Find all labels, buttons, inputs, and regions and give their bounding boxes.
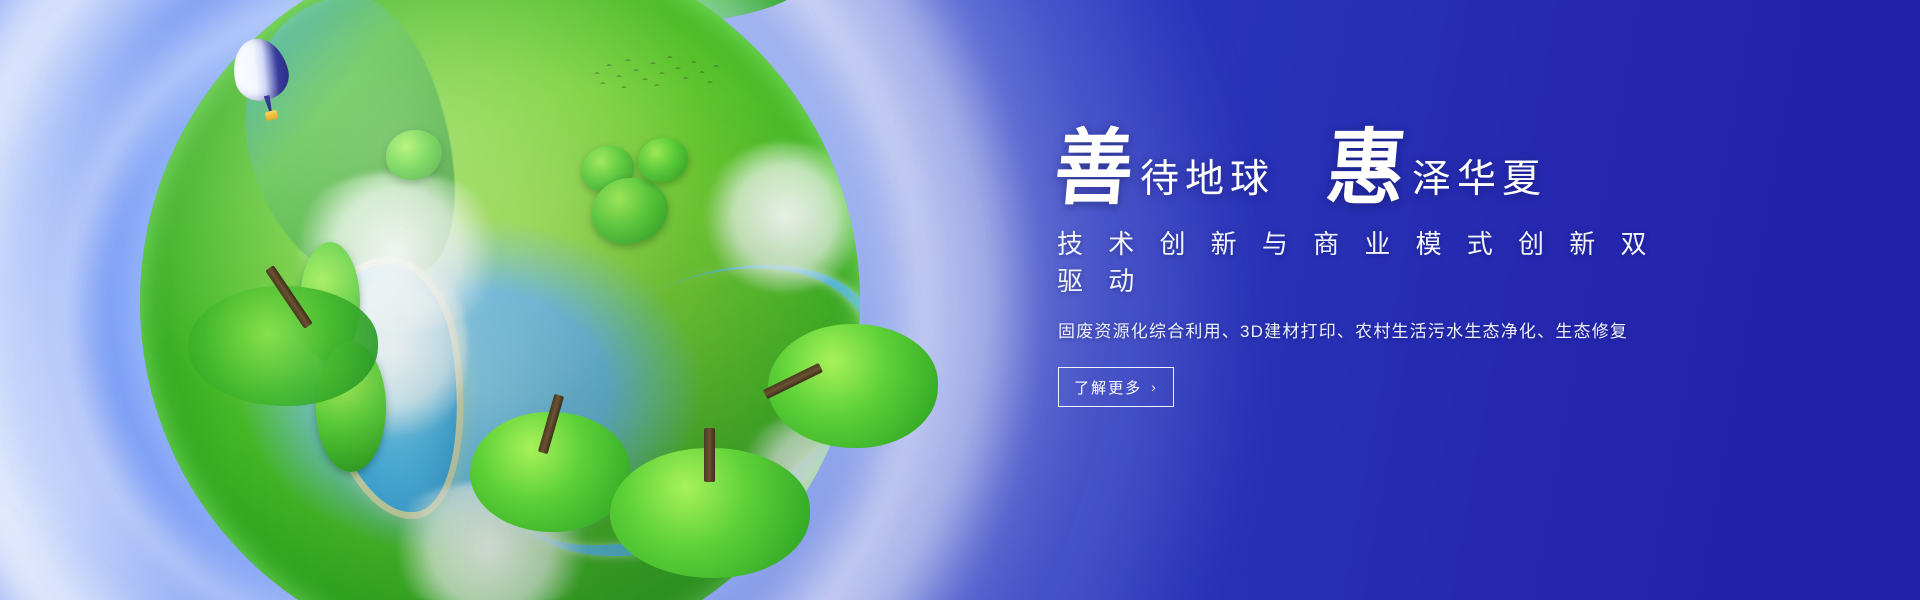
bush [386,130,442,180]
tagline: 技 术 创 新 与 商 业 模 式 创 新 双 驱 动 [1057,224,1695,298]
planet-sphere [140,0,860,600]
chevron-right-icon: › [1151,380,1158,394]
river [451,205,860,600]
headline-part2-large: 惠 [1323,128,1415,211]
headline-part2-small: 泽华夏 [1412,160,1547,208]
headline-part1-small: 待地球 [1140,160,1275,208]
learn-more-label: 了解更多 [1074,377,1142,398]
bush [300,242,360,362]
bush [592,178,668,244]
description-text: 固废资源化综合利用、3D建材打印、农村生活污水生态净化、生态修复 [1058,317,1695,342]
mountain-ridge [206,0,493,315]
bush [638,138,688,182]
hero-banner: 善 待地球 惠 泽华夏 技 术 创 新 与 商 业 模 式 创 新 双 驱 动 … [0,0,1920,600]
green-planet-illustration [140,0,860,600]
banner-copy: 善 待地球 惠 泽华夏 技 术 创 新 与 商 业 模 式 创 新 双 驱 动 … [1055,130,1695,407]
headline-part1-large: 善 [1051,128,1143,211]
cloud-patch [730,412,860,552]
cloud-patch [282,172,512,332]
bush [316,342,386,472]
learn-more-button[interactable]: 了解更多 › [1058,367,1174,407]
cloud-patch [318,242,468,452]
cloud-patch [700,142,860,292]
bush [582,146,634,192]
lake [307,255,476,523]
page-title: 善 待地球 惠 泽华夏 [1055,130,1695,208]
bush [740,502,830,572]
cloud-patch [376,482,606,600]
